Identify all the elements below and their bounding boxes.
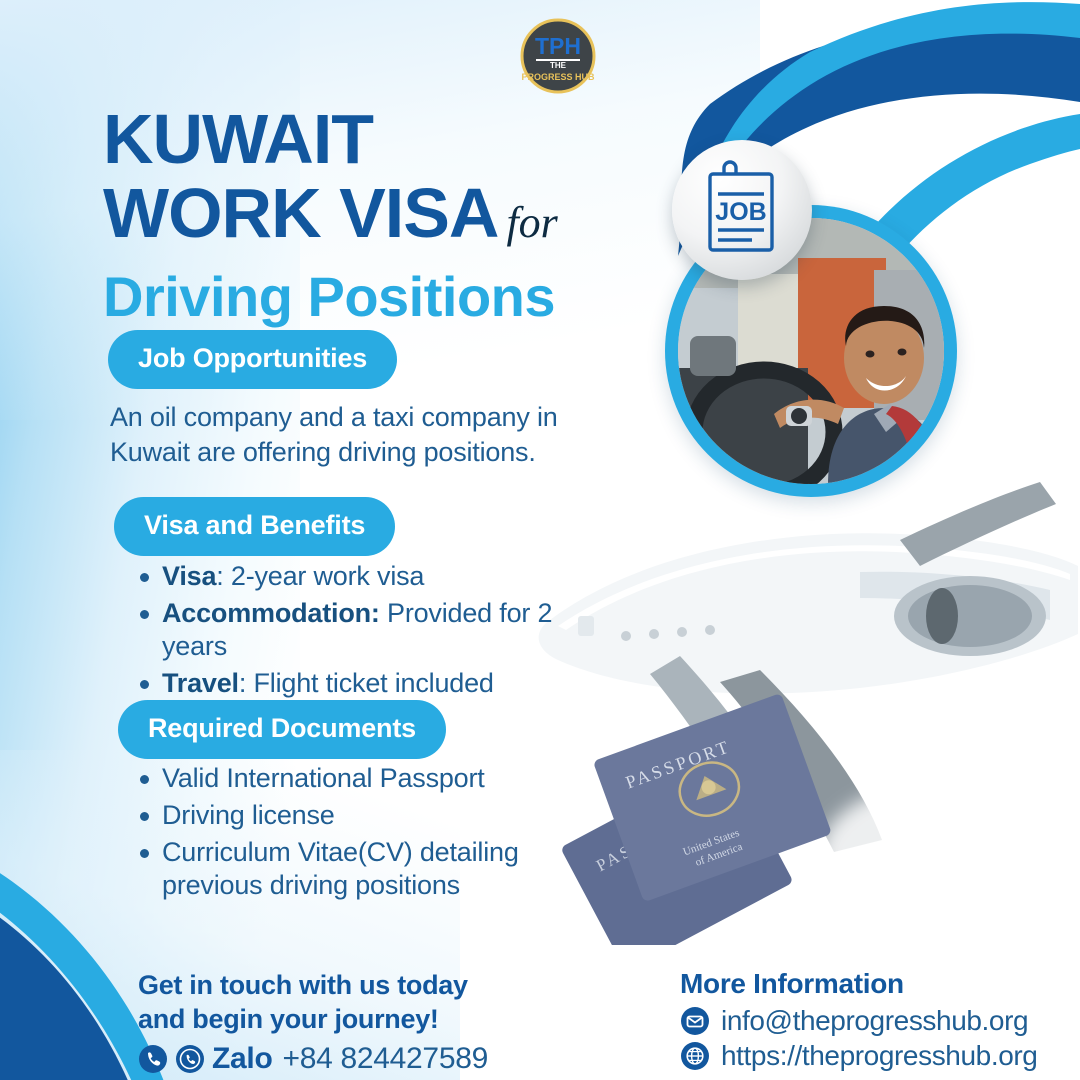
job-sticker-badge: JOB: [672, 140, 812, 280]
job-opportunities-paragraph: An oil company and a taxi company in Kuw…: [110, 400, 610, 470]
poster-canvas: TPH THE PROGRESS HUB PASSPORT PASSPORT: [0, 0, 1080, 1080]
svg-text:PROGRESS HUB: PROGRESS HUB: [521, 72, 595, 82]
phone-number: +84 824427589: [282, 1042, 488, 1076]
headline-line-2: WORK VISA for: [103, 176, 558, 260]
contact-block: Get in touch with us today and begin you…: [138, 968, 488, 1076]
list-item-text: Flight ticket included: [246, 668, 494, 698]
globe-icon: [680, 1041, 710, 1071]
brand-logo: TPH THE PROGRESS HUB: [520, 18, 596, 94]
phone-icon: [138, 1044, 168, 1074]
svg-text:THE: THE: [550, 61, 567, 70]
svg-text:TPH: TPH: [535, 33, 581, 59]
email-address: info@theprogresshub.org: [721, 1005, 1028, 1037]
list-item: Curriculum Vitae(CV) detailing previous …: [162, 836, 562, 902]
website-url: https://theprogresshub.org: [721, 1040, 1037, 1072]
headline-for-word: for: [506, 186, 557, 260]
section-pill-visa-and-benefits: Visa and Benefits: [114, 497, 395, 556]
passports-illustration: PASSPORT PASSPORT United States of Ameri…: [520, 655, 940, 945]
headline-line-3: Driving Positions: [103, 264, 558, 330]
headline-line-1: KUWAIT: [103, 102, 558, 176]
list-item-label: Visa: [162, 561, 216, 591]
more-information-title: More Information: [680, 968, 1037, 1000]
email-icon: [680, 1006, 710, 1036]
more-information-block: More Information info@theprogresshub.org: [680, 968, 1037, 1072]
list-item-separator: :: [216, 561, 223, 591]
list-item: Valid International Passport: [162, 762, 562, 795]
cta-line-1: Get in touch with us today: [138, 968, 488, 1002]
email-row[interactable]: info@theprogresshub.org: [680, 1005, 1037, 1037]
cta-line-2: and begin your journey!: [138, 1002, 488, 1036]
list-item: Travel: Flight ticket included: [162, 667, 582, 700]
phone-contact-row[interactable]: Zalo +84 824427589: [138, 1042, 488, 1076]
website-row[interactable]: https://theprogresshub.org: [680, 1040, 1037, 1072]
page-title: KUWAIT WORK VISA for Driving Positions: [103, 102, 558, 330]
whatsapp-icon: [175, 1044, 205, 1074]
list-item-label: Accommodation:: [162, 598, 380, 628]
required-documents-list: Valid International Passport Driving lic…: [128, 762, 562, 906]
section-pill-required-documents: Required Documents: [118, 700, 446, 759]
list-item-label: Travel: [162, 668, 239, 698]
list-item: Visa: 2-year work visa: [162, 560, 582, 593]
section-pill-job-opportunities: Job Opportunities: [108, 330, 397, 389]
headline-line-2-text: WORK VISA: [103, 176, 498, 250]
list-item-text: 2-year work visa: [224, 561, 425, 591]
visa-benefits-list: Visa: 2-year work visa Accommodation: Pr…: [128, 560, 582, 704]
list-item: Accommodation: Provided for 2 years: [162, 597, 582, 663]
zalo-label: Zalo: [212, 1042, 272, 1076]
job-sticker-label: JOB: [715, 198, 766, 226]
list-item: Driving license: [162, 799, 562, 832]
